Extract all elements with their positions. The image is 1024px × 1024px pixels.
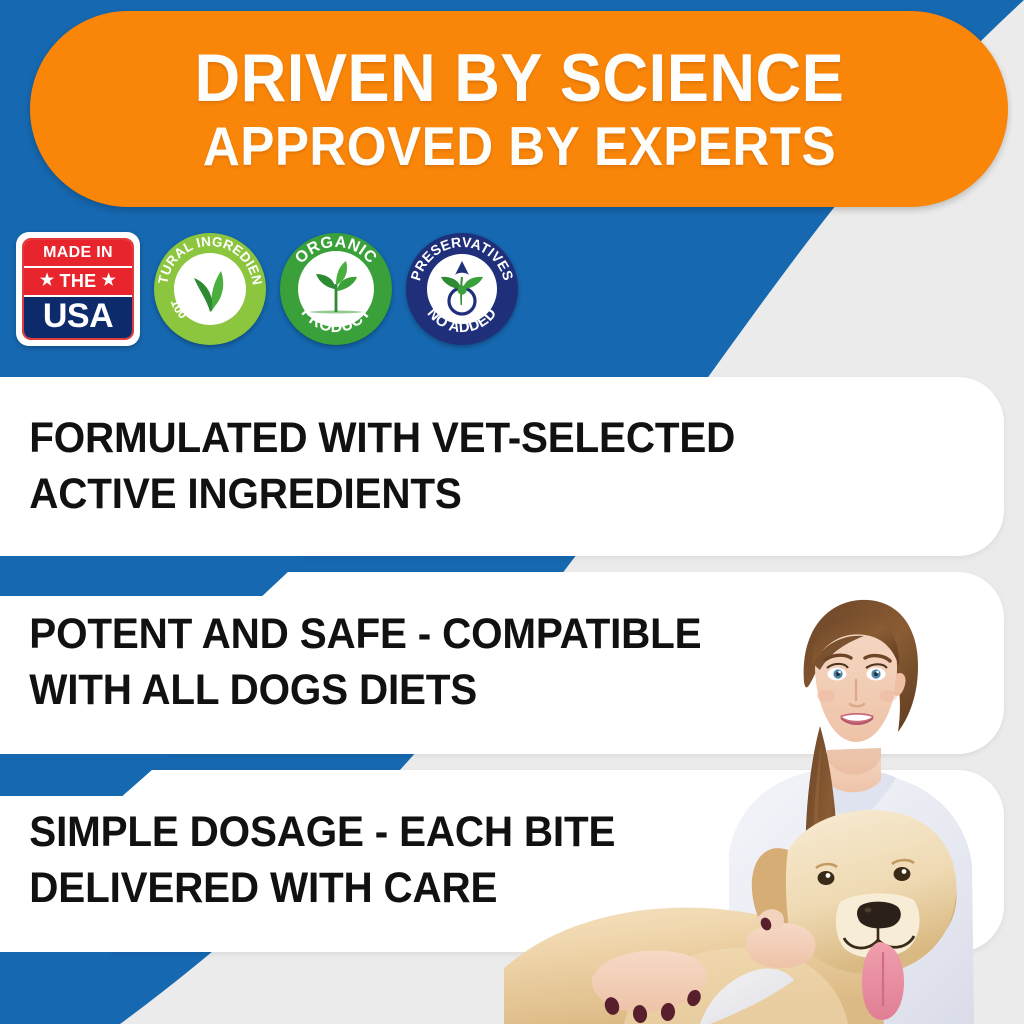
usa-the-row: ★ THE ★	[24, 268, 132, 297]
headline-banner: DRIVEN BY SCIENCE APPROVED BY EXPERTS	[30, 11, 1008, 207]
benefit-card-1: FORMULATED WITH VET-SELECTED ACTIVE INGR…	[0, 377, 1004, 556]
blue-separator-bar-1	[0, 556, 305, 596]
sprout-icon	[298, 251, 374, 327]
certification-badge-row: MADE IN ★ THE ★ USA NATURAL INGRED	[16, 232, 518, 346]
headline-line-1: DRIVEN BY SCIENCE	[194, 44, 844, 112]
star-icon: ★	[101, 273, 116, 289]
usa-made-in-label: MADE IN	[24, 240, 132, 268]
usa-label: USA	[24, 297, 132, 338]
organic-product-badge: ORGANIC PRODUCT	[280, 233, 392, 345]
made-in-usa-badge-icon: MADE IN ★ THE ★ USA	[16, 232, 140, 346]
vet-with-dog-photo	[504, 554, 1024, 1024]
no-added-preservatives-badge: PRESERVATIVES NO ADDED	[406, 233, 518, 345]
star-icon: ★	[40, 273, 55, 289]
leaf-droplet-icon	[427, 254, 497, 324]
usa-the-label: THE	[60, 271, 97, 292]
natural-ingredients-badge: NATURAL INGREDIENTS 100%	[154, 233, 266, 345]
two-leaves-icon	[174, 253, 246, 325]
headline-line-2: APPROVED BY EXPERTS	[202, 119, 835, 174]
infographic-canvas: DRIVEN BY SCIENCE APPROVED BY EXPERTS MA…	[0, 0, 1024, 1024]
benefit-1-text: FORMULATED WITH VET-SELECTED ACTIVE INGR…	[0, 411, 735, 523]
